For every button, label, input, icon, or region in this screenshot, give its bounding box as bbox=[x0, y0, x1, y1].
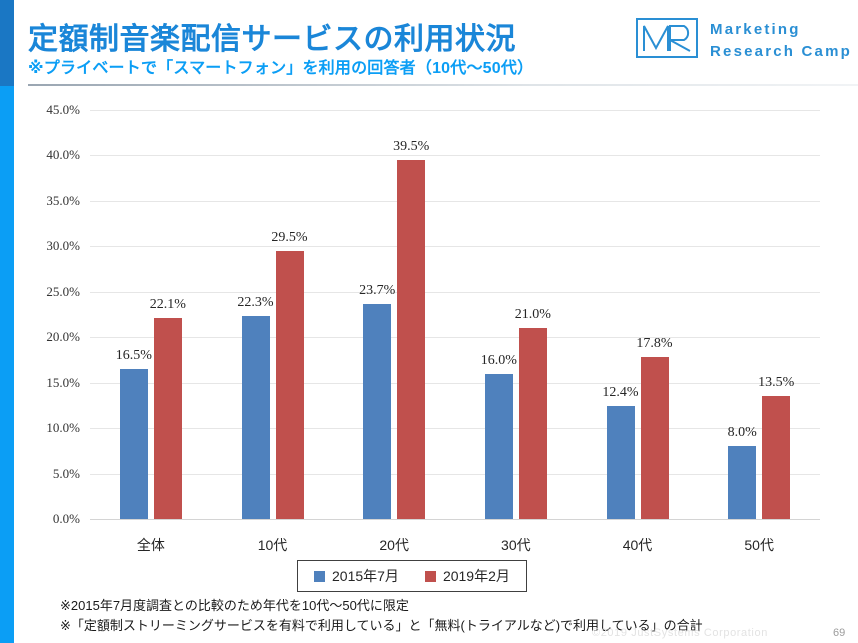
legend-swatch-icon-series-1 bbox=[425, 571, 436, 582]
bar-value-label: 17.8% bbox=[636, 336, 672, 352]
brand-logo: Marketing Research Camp bbox=[636, 18, 852, 63]
x-axis-tick-label: 40代 bbox=[623, 535, 653, 555]
bar[interactable] bbox=[641, 357, 669, 519]
brand-logo-line2: Research Camp bbox=[710, 43, 852, 60]
plot-area: 45.0%40.0%35.0%30.0%25.0%20.0%15.0%10.0%… bbox=[90, 110, 820, 519]
footnote-1: ※2015年7月度調査との比較のため年代を10代〜50代に限定 bbox=[60, 596, 703, 616]
bar-value-label: 22.1% bbox=[150, 297, 186, 313]
accent-stripe-bottom bbox=[0, 86, 14, 643]
y-axis-tick-label: 45.0% bbox=[46, 102, 80, 118]
bar-slot: 17.8% bbox=[641, 110, 669, 519]
y-axis-tick-label: 10.0% bbox=[46, 420, 80, 436]
bar-group: 16.5%22.1%全体 bbox=[90, 110, 212, 519]
slide-header: 定額制音楽配信サービスの利用状況 ※プライベートで「スマートフォン」を利用の回答… bbox=[14, 0, 858, 86]
bar-group: 22.3%29.5%10代 bbox=[212, 110, 334, 519]
bar-group: 8.0%13.5%50代 bbox=[698, 110, 820, 519]
page-subtitle: ※プライベートで「スマートフォン」を利用の回答者（10代〜50代） bbox=[28, 54, 533, 78]
x-axis-tick-label: 50代 bbox=[744, 535, 774, 555]
bar-value-label: 29.5% bbox=[271, 230, 307, 246]
accent-stripe-top bbox=[0, 0, 14, 86]
bar-slot: 29.5% bbox=[276, 110, 304, 519]
copyright-text: ©2019 JustSystems Corporation bbox=[592, 627, 768, 639]
bar-value-label: 16.5% bbox=[116, 348, 152, 364]
bar-slot: 16.5% bbox=[120, 110, 148, 519]
y-axis-tick-label: 35.0% bbox=[46, 193, 80, 209]
x-axis-tick-label: 20代 bbox=[379, 535, 409, 555]
bar-chart: 45.0%40.0%35.0%30.0%25.0%20.0%15.0%10.0%… bbox=[14, 92, 858, 562]
bar-value-label: 16.0% bbox=[481, 353, 517, 369]
legend-item-series-0[interactable]: 2015年7月 bbox=[314, 566, 399, 586]
bar[interactable] bbox=[485, 374, 513, 519]
brand-logo-text: Marketing Research Camp bbox=[710, 19, 852, 63]
y-axis-tick-label: 25.0% bbox=[46, 284, 80, 300]
slide: 定額制音楽配信サービスの利用状況 ※プライベートで「スマートフォン」を利用の回答… bbox=[0, 0, 858, 643]
bar-slot: 13.5% bbox=[762, 110, 790, 519]
bar-slot: 22.3% bbox=[242, 110, 270, 519]
bar[interactable] bbox=[519, 328, 547, 519]
header-divider bbox=[28, 84, 858, 86]
bar-value-label: 8.0% bbox=[728, 425, 757, 441]
bar-slot: 21.0% bbox=[519, 110, 547, 519]
bar[interactable] bbox=[397, 160, 425, 519]
legend-item-series-1[interactable]: 2019年2月 bbox=[425, 566, 510, 586]
mr-monogram-icon bbox=[636, 18, 698, 63]
legend-label-series-1: 2019年2月 bbox=[443, 566, 510, 586]
bar[interactable] bbox=[607, 406, 635, 519]
bar-slot: 23.7% bbox=[363, 110, 391, 519]
bar-value-label: 13.5% bbox=[758, 375, 794, 391]
bar-slot: 39.5% bbox=[397, 110, 425, 519]
x-axis-tick-label: 10代 bbox=[258, 535, 288, 555]
y-axis-tick-label: 5.0% bbox=[53, 466, 80, 482]
y-axis-tick-label: 15.0% bbox=[46, 375, 80, 391]
bar[interactable] bbox=[762, 396, 790, 519]
bar-group: 12.4%17.8%40代 bbox=[577, 110, 699, 519]
bar-value-label: 23.7% bbox=[359, 283, 395, 299]
bar-value-label: 39.5% bbox=[393, 139, 429, 155]
y-axis-tick-label: 0.0% bbox=[53, 511, 80, 527]
legend-swatch-icon-series-0 bbox=[314, 571, 325, 582]
bar[interactable] bbox=[363, 304, 391, 519]
y-axis-tick-label: 20.0% bbox=[46, 329, 80, 345]
brand-logo-line1: Marketing bbox=[710, 21, 801, 38]
chart-legend: 2015年7月 2019年2月 bbox=[297, 560, 527, 592]
bar-slot: 12.4% bbox=[607, 110, 635, 519]
bar-slot: 8.0% bbox=[728, 110, 756, 519]
bar[interactable] bbox=[154, 318, 182, 519]
x-axis-tick-label: 全体 bbox=[137, 535, 165, 555]
x-axis-tick-label: 30代 bbox=[501, 535, 531, 555]
bar-groups: 16.5%22.1%全体22.3%29.5%10代23.7%39.5%20代16… bbox=[90, 110, 820, 519]
bar[interactable] bbox=[120, 369, 148, 519]
bar[interactable] bbox=[276, 251, 304, 519]
bar-value-label: 12.4% bbox=[602, 385, 638, 401]
bar[interactable] bbox=[242, 316, 270, 519]
page-number: 69 bbox=[833, 627, 845, 639]
bar-group: 16.0%21.0%30代 bbox=[455, 110, 577, 519]
legend-label-series-0: 2015年7月 bbox=[332, 566, 399, 586]
bar[interactable] bbox=[728, 446, 756, 519]
bar-group: 23.7%39.5%20代 bbox=[333, 110, 455, 519]
y-axis-tick-label: 30.0% bbox=[46, 238, 80, 254]
gridline: 0.0% bbox=[90, 519, 820, 520]
page-title: 定額制音楽配信サービスの利用状況 bbox=[28, 14, 516, 58]
bar-value-label: 22.3% bbox=[237, 295, 273, 311]
bar-slot: 16.0% bbox=[485, 110, 513, 519]
y-axis-tick-label: 40.0% bbox=[46, 147, 80, 163]
bar-value-label: 21.0% bbox=[515, 307, 551, 323]
bar-slot: 22.1% bbox=[154, 110, 182, 519]
